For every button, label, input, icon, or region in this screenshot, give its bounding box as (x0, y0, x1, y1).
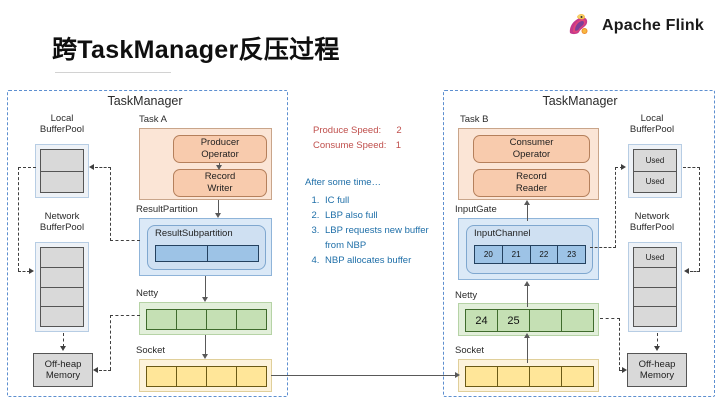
right-task-container: Consumer Operator Record Reader (458, 128, 599, 200)
consume-speed-value: 1 (396, 140, 401, 151)
connector-dashed (683, 167, 700, 168)
buffer-cell: 25 (498, 310, 530, 331)
buffer-cell: Used (634, 150, 676, 172)
connector (527, 205, 528, 221)
record-reader-box: Record Reader (473, 169, 590, 197)
record-writer-line2: Writer (205, 183, 236, 195)
buffer-cell (562, 310, 593, 331)
buffer-cell (634, 307, 676, 326)
left-socket-label: Socket (136, 345, 165, 356)
buffer-cell (498, 367, 530, 386)
left-local-bufferpool-cells (40, 149, 84, 193)
left-socket-cells (146, 366, 267, 387)
right-network-bufferpool: Used (628, 242, 682, 332)
arrow-down-icon (215, 213, 221, 218)
arrow-down-icon (202, 354, 208, 359)
buffer-cell (237, 310, 266, 329)
input-channel-label: InputChannel (467, 226, 592, 239)
left-task-container: Producer Operator Record Writer (139, 128, 272, 200)
connector-dashed (95, 167, 111, 168)
right-netty-container: 24 25 (458, 303, 599, 336)
buffer-cell (530, 310, 562, 331)
connector-dashed (18, 167, 36, 168)
flink-squirrel-icon (564, 8, 594, 43)
left-socket-container (139, 359, 272, 392)
left-netty-cells (146, 309, 267, 330)
list-item: LBP also full (322, 208, 445, 223)
buffer-cell: 24 (466, 310, 498, 331)
connector-dashed (110, 315, 111, 370)
cross-taskmanager-connector (271, 375, 458, 376)
result-subpartition-label: ResultSubpartition (148, 226, 265, 239)
arrow-up-icon (524, 281, 530, 286)
consumer-operator-line2: Operator (510, 149, 554, 161)
buffer-cell (41, 288, 83, 308)
arrow-down-icon (202, 297, 208, 302)
producer-operator-line2: Operator (201, 149, 240, 161)
record-writer-box: Record Writer (173, 169, 267, 197)
arrow-down-icon (60, 346, 66, 351)
arrow-up-icon (524, 333, 530, 338)
connector-dashed (699, 167, 700, 271)
consume-speed-label: Consume Speed: (313, 140, 386, 151)
right-network-bufferpool-cells: Used (633, 247, 677, 327)
right-taskmanager-title: TaskManager (495, 94, 665, 108)
left-netty-container (139, 302, 272, 335)
right-local-bufferpool: Used Used (628, 144, 682, 198)
consumer-operator-line1: Consumer (510, 137, 554, 149)
connector-dashed (657, 333, 658, 347)
buffer-cell (41, 268, 83, 288)
left-resultpartition-container: ResultSubpartition (139, 218, 272, 276)
right-inputgate-label: InputGate (455, 204, 497, 215)
buffer-cell: 22 (531, 246, 559, 263)
arrow-down-icon (654, 346, 660, 351)
arrow-left-icon (93, 367, 98, 373)
arrow-right-icon (455, 372, 460, 378)
list-item: NBP allocates buffer (322, 253, 445, 268)
buffer-cell (156, 246, 208, 261)
consumer-operator-box: Consumer Operator (473, 135, 590, 163)
produce-speed-value: 2 (396, 125, 401, 136)
arrow-right-icon (621, 164, 626, 170)
producer-operator-line1: Producer (201, 137, 240, 149)
left-task-label: Task A (139, 114, 167, 125)
buffer-cell (41, 307, 83, 326)
produce-speed-label: Produce Speed: (313, 125, 381, 136)
record-writer-line1: Record (205, 171, 236, 183)
list-item: LBP requests new buffer from NBP (322, 223, 445, 253)
buffer-cell (147, 310, 177, 329)
left-network-bufferpool (35, 242, 89, 332)
left-network-bufferpool-cells (40, 247, 84, 327)
arrow-right-icon (622, 367, 627, 373)
left-network-bufferpool-label: Network BufferPool (27, 211, 97, 233)
buffer-cell (177, 367, 207, 386)
left-netty-label: Netty (136, 288, 158, 299)
buffer-cell (207, 310, 237, 329)
off-heap-line1: Off-heap (45, 359, 82, 370)
left-taskmanager-title: TaskManager (60, 94, 230, 108)
buffer-cell: Used (634, 172, 676, 193)
right-task-label: Task B (460, 114, 489, 125)
brand-name: Apache Flink (602, 17, 704, 35)
connector-dashed (619, 318, 620, 370)
right-netty-label: Netty (455, 290, 477, 301)
connector-dashed (63, 333, 64, 347)
list-item: IC full (322, 193, 445, 208)
producer-operator-box: Producer Operator (173, 135, 267, 163)
right-local-bufferpool-label: Local BufferPool (617, 113, 687, 135)
input-channel-cells: 20 21 22 23 (474, 245, 586, 264)
right-local-bufferpool-cells: Used Used (633, 149, 677, 193)
steps-note: After some time… IC full LBP also full L… (305, 175, 445, 268)
buffer-cell (207, 367, 237, 386)
buffer-cell: Used (634, 248, 676, 268)
title-underline (55, 72, 171, 73)
buffer-cell: 21 (503, 246, 531, 263)
connector-dashed (110, 315, 140, 316)
buffer-cell (530, 367, 562, 386)
right-inputgate-container: InputChannel 20 21 22 23 (458, 218, 599, 280)
arrow-left-icon (89, 164, 94, 170)
buffer-cell: 20 (475, 246, 503, 263)
arrow-left-icon (684, 268, 689, 274)
connector (527, 285, 528, 307)
buffer-cell (634, 268, 676, 288)
buffer-cell (562, 367, 593, 386)
connector (527, 337, 528, 363)
connector-dashed (690, 271, 700, 272)
right-socket-label: Socket (455, 345, 484, 356)
steps-list: IC full LBP also full LBP requests new b… (305, 193, 445, 268)
right-socket-container (458, 359, 599, 392)
connector-dashed (590, 247, 616, 248)
buffer-cell: 23 (558, 246, 585, 263)
buffer-cell (147, 367, 177, 386)
left-off-heap-memory: Off-heap Memory (33, 353, 93, 387)
connector-dashed (110, 240, 140, 241)
buffer-cell (41, 150, 83, 172)
buffer-cell (466, 367, 498, 386)
connector-dashed (600, 318, 620, 319)
right-network-bufferpool-label: Network BufferPool (617, 211, 687, 233)
arrow-down-icon (216, 165, 222, 170)
result-subpartition-cells (155, 245, 259, 262)
buffer-cell (41, 248, 83, 268)
connector-dashed (18, 167, 19, 271)
buffer-cell (177, 310, 207, 329)
input-channel: InputChannel 20 21 22 23 (466, 225, 593, 274)
buffer-cell (634, 288, 676, 308)
off-heap-line2: Memory (45, 370, 82, 381)
brand-logo: Apache Flink (564, 8, 704, 43)
arrow-up-icon (524, 200, 530, 205)
record-reader-line1: Record (516, 171, 547, 183)
buffer-cell (41, 172, 83, 193)
arrow-right-icon (29, 268, 34, 274)
off-heap-line2: Memory (639, 370, 676, 381)
buffer-cell (237, 367, 266, 386)
steps-header: After some time… (305, 175, 445, 190)
right-socket-cells (465, 366, 594, 387)
buffer-cell (208, 246, 259, 261)
connector-dashed (99, 370, 111, 371)
left-local-bufferpool (35, 144, 89, 198)
result-subpartition: ResultSubpartition (147, 225, 266, 270)
connector-dashed (615, 167, 616, 248)
right-netty-cells: 24 25 (465, 309, 594, 332)
right-off-heap-memory: Off-heap Memory (627, 353, 687, 387)
left-local-bufferpool-label: Local BufferPool (27, 113, 97, 135)
left-resultpartition-label: ResultPartition (136, 204, 198, 215)
off-heap-line1: Off-heap (639, 359, 676, 370)
record-reader-line2: Reader (516, 183, 547, 195)
speed-note: Produce Speed: 2 Consume Speed: 1 (313, 124, 402, 153)
page-title: 跨TaskManager反压过程 (52, 30, 340, 66)
connector-dashed (110, 167, 111, 241)
